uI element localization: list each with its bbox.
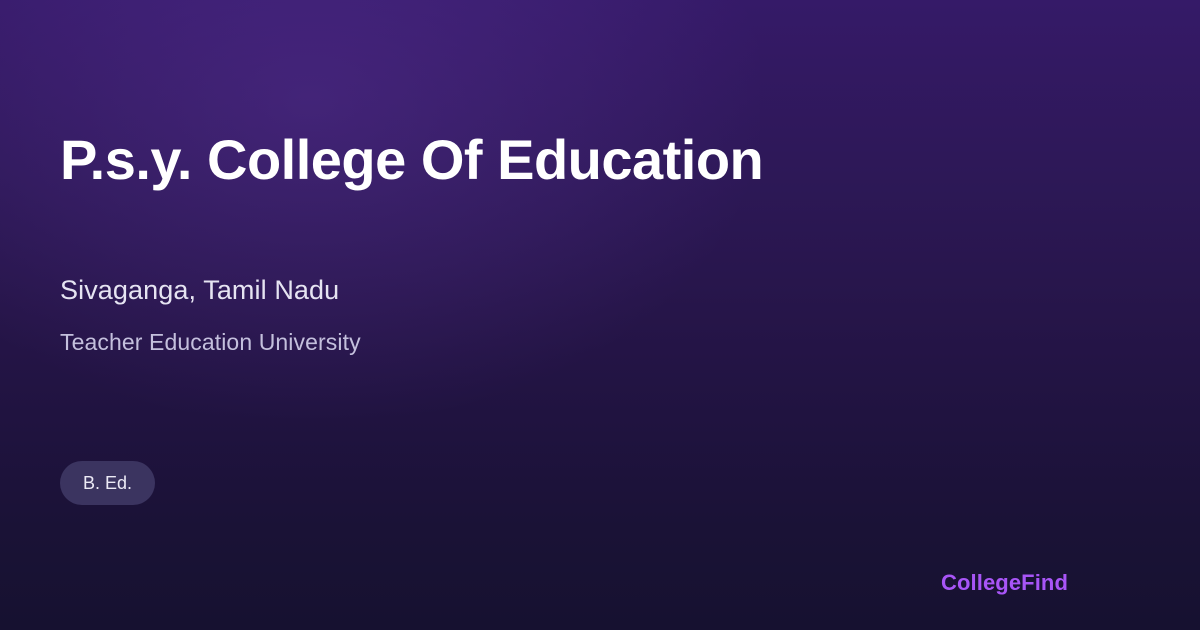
college-category: Teacher Education University [60, 326, 361, 358]
card-content: P.s.y. College Of Education Sivaganga, T… [60, 0, 1140, 630]
college-location: Sivaganga, Tamil Nadu [60, 272, 339, 308]
status-badge: B. Ed. [60, 461, 155, 505]
tag-list: B. Ed. [60, 461, 155, 505]
brand-wordmark: CollegeFind [941, 568, 1068, 598]
college-og-card: P.s.y. College Of Education Sivaganga, T… [0, 0, 1200, 630]
page-title: P.s.y. College Of Education [60, 126, 1040, 194]
